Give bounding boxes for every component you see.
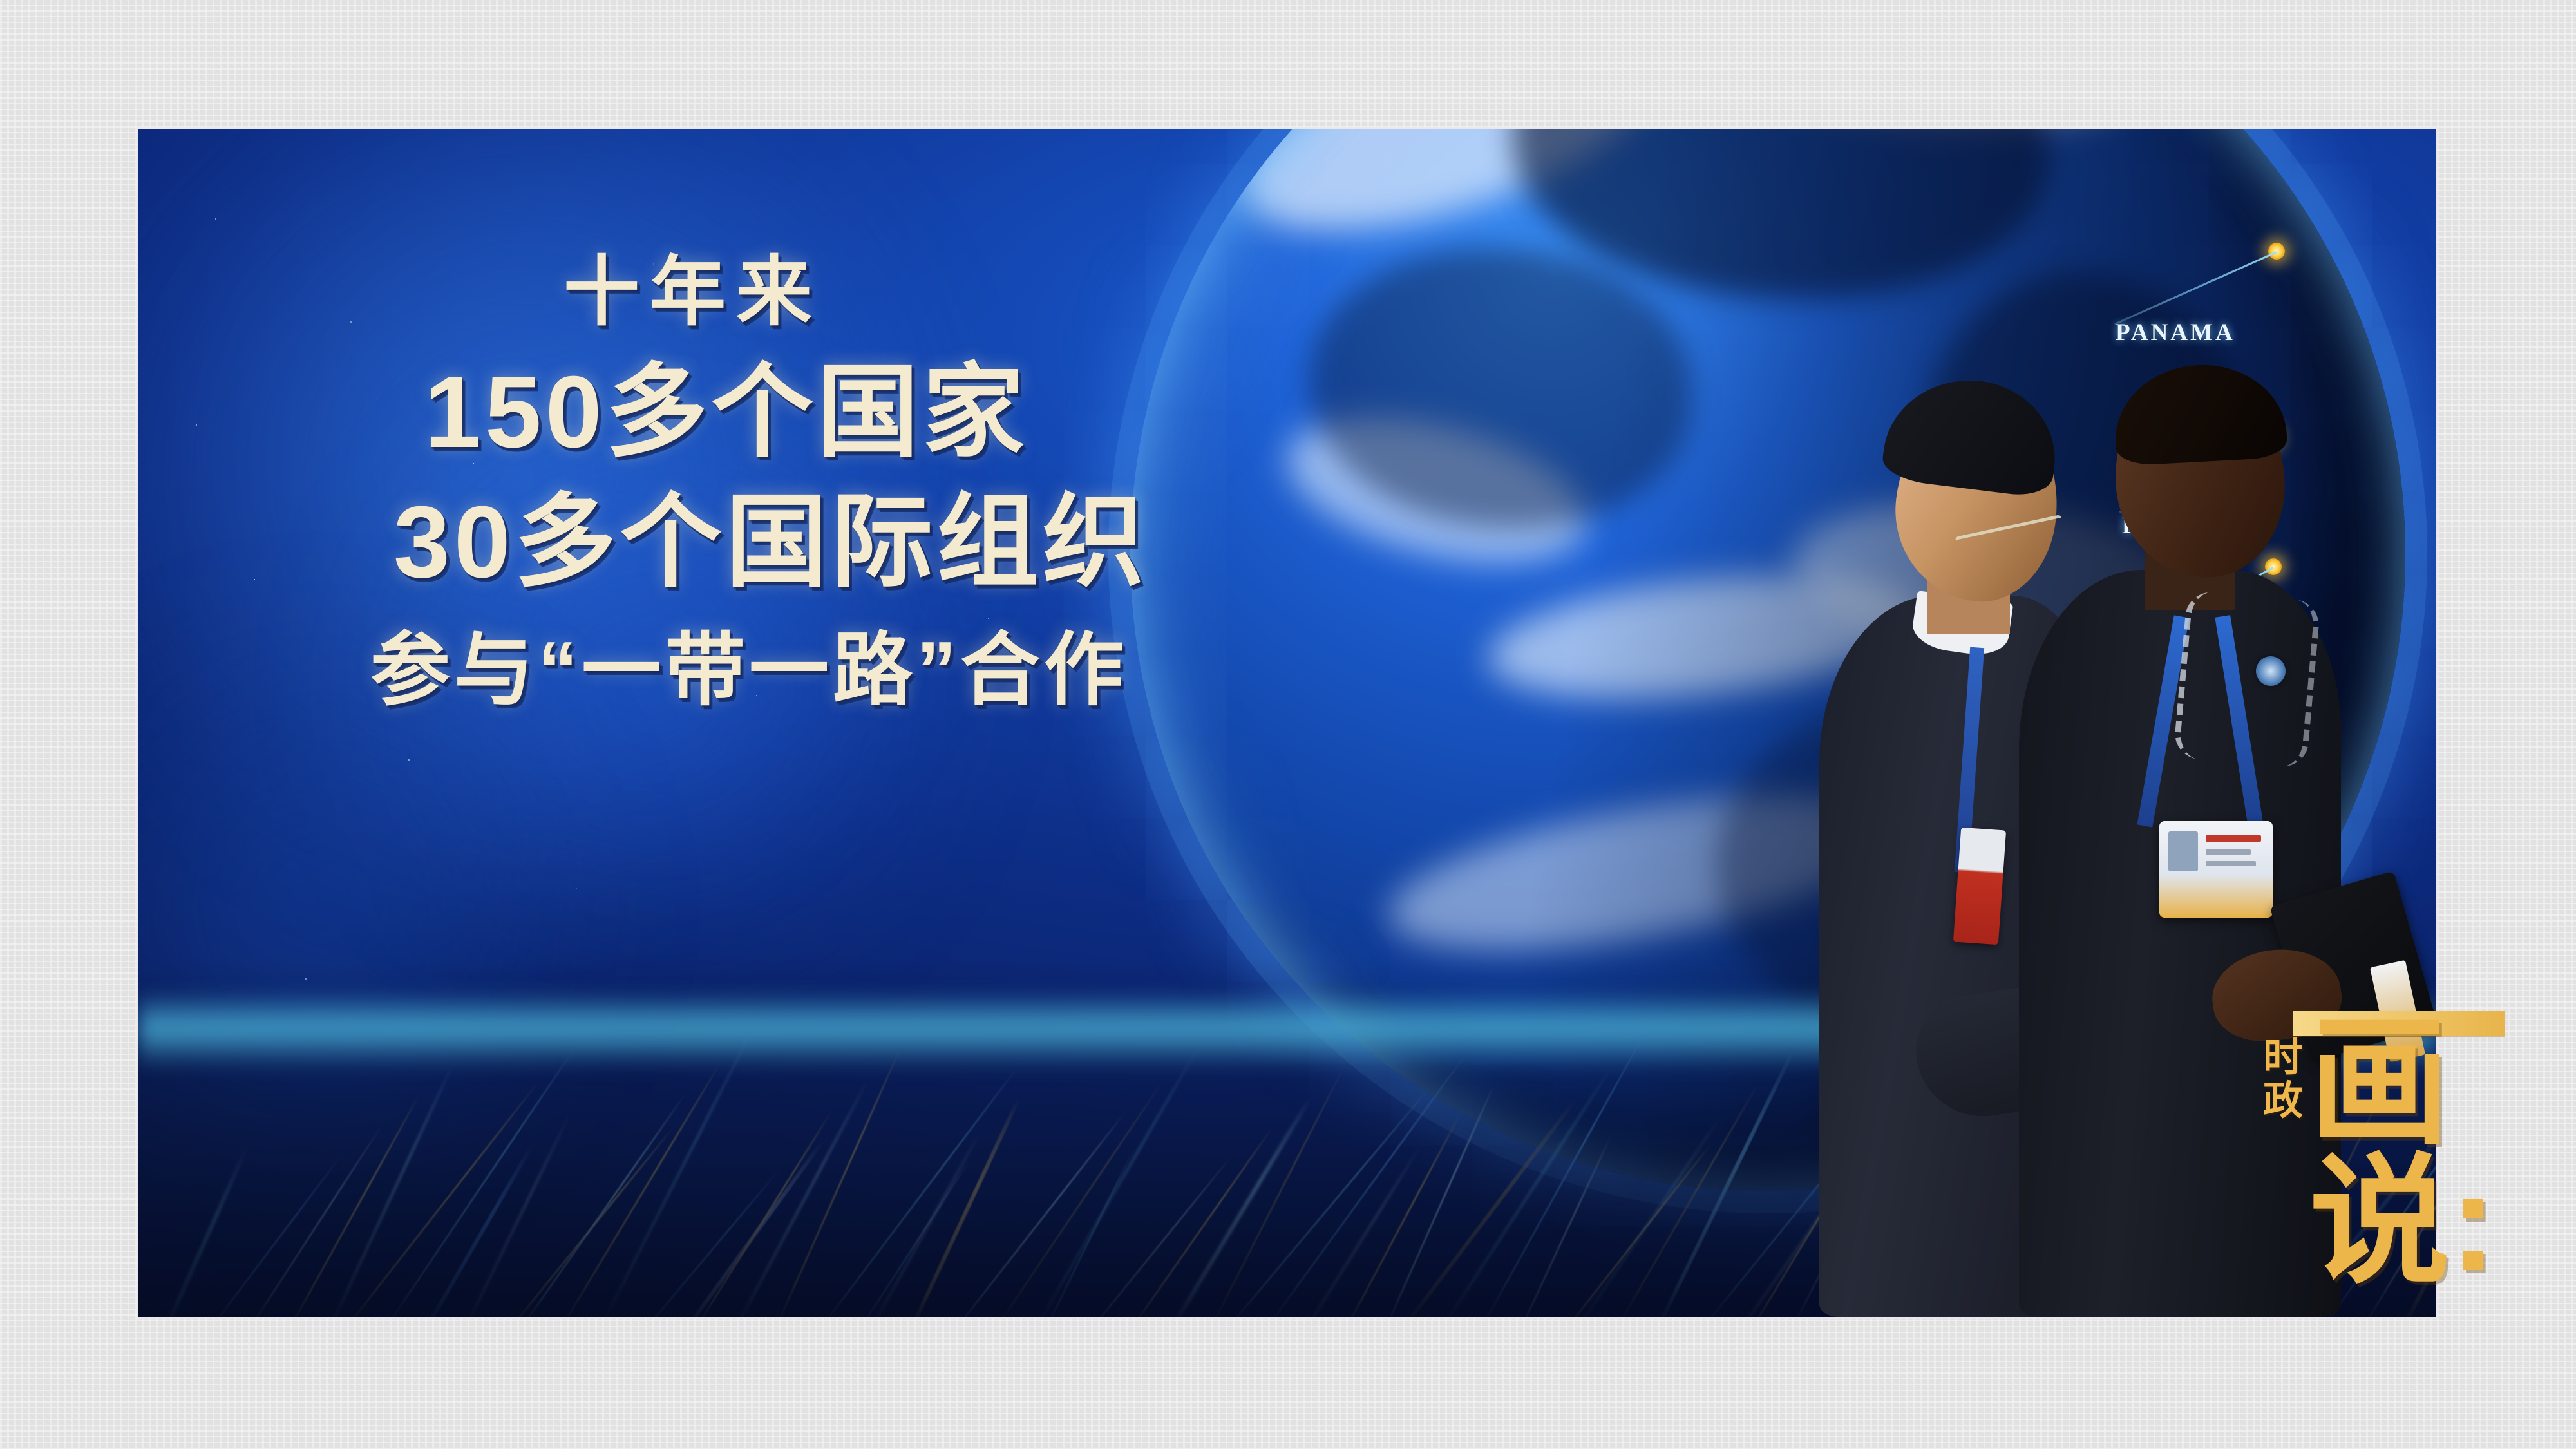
- headline-line-1: 十年来: [563, 254, 1311, 330]
- headline-line-2: 150多个国家: [424, 361, 1311, 463]
- badge-text-line: [2206, 849, 2251, 855]
- program-watermark-logo: 时政 画说:: [2254, 992, 2537, 1443]
- headline-line-4: 参与“一带一路”合作: [370, 630, 1311, 710]
- badge-photo: [2168, 831, 2198, 871]
- globe-pin-dot: [2268, 243, 2285, 260]
- stage-led-screen: CUBAJAMAICAPANAMAECUADORPERU 十年来 150多个国家…: [138, 129, 2436, 1317]
- headline-line-3: 30多个国际组织: [393, 491, 1311, 593]
- id-badge: [1953, 828, 2006, 945]
- badge-text-line: [2206, 835, 2261, 842]
- logo-small-text: 时政: [2254, 1037, 2313, 1123]
- id-badge: [2159, 821, 2273, 918]
- lapel-pin: [2256, 656, 2286, 686]
- globe-pin-label-panama: PANAMA: [2116, 319, 2235, 346]
- badge-text-line: [2206, 861, 2256, 866]
- neck-chain: [2173, 590, 2321, 768]
- headline-block: 十年来 150多个国家 30多个国际组织 参与“一带一路”合作: [370, 254, 1311, 710]
- screenshot-canvas: CUBAJAMAICAPANAMAECUADORPERU 十年来 150多个国家…: [0, 0, 2576, 1449]
- logo-big-text: 画说:: [2309, 1014, 2528, 1292]
